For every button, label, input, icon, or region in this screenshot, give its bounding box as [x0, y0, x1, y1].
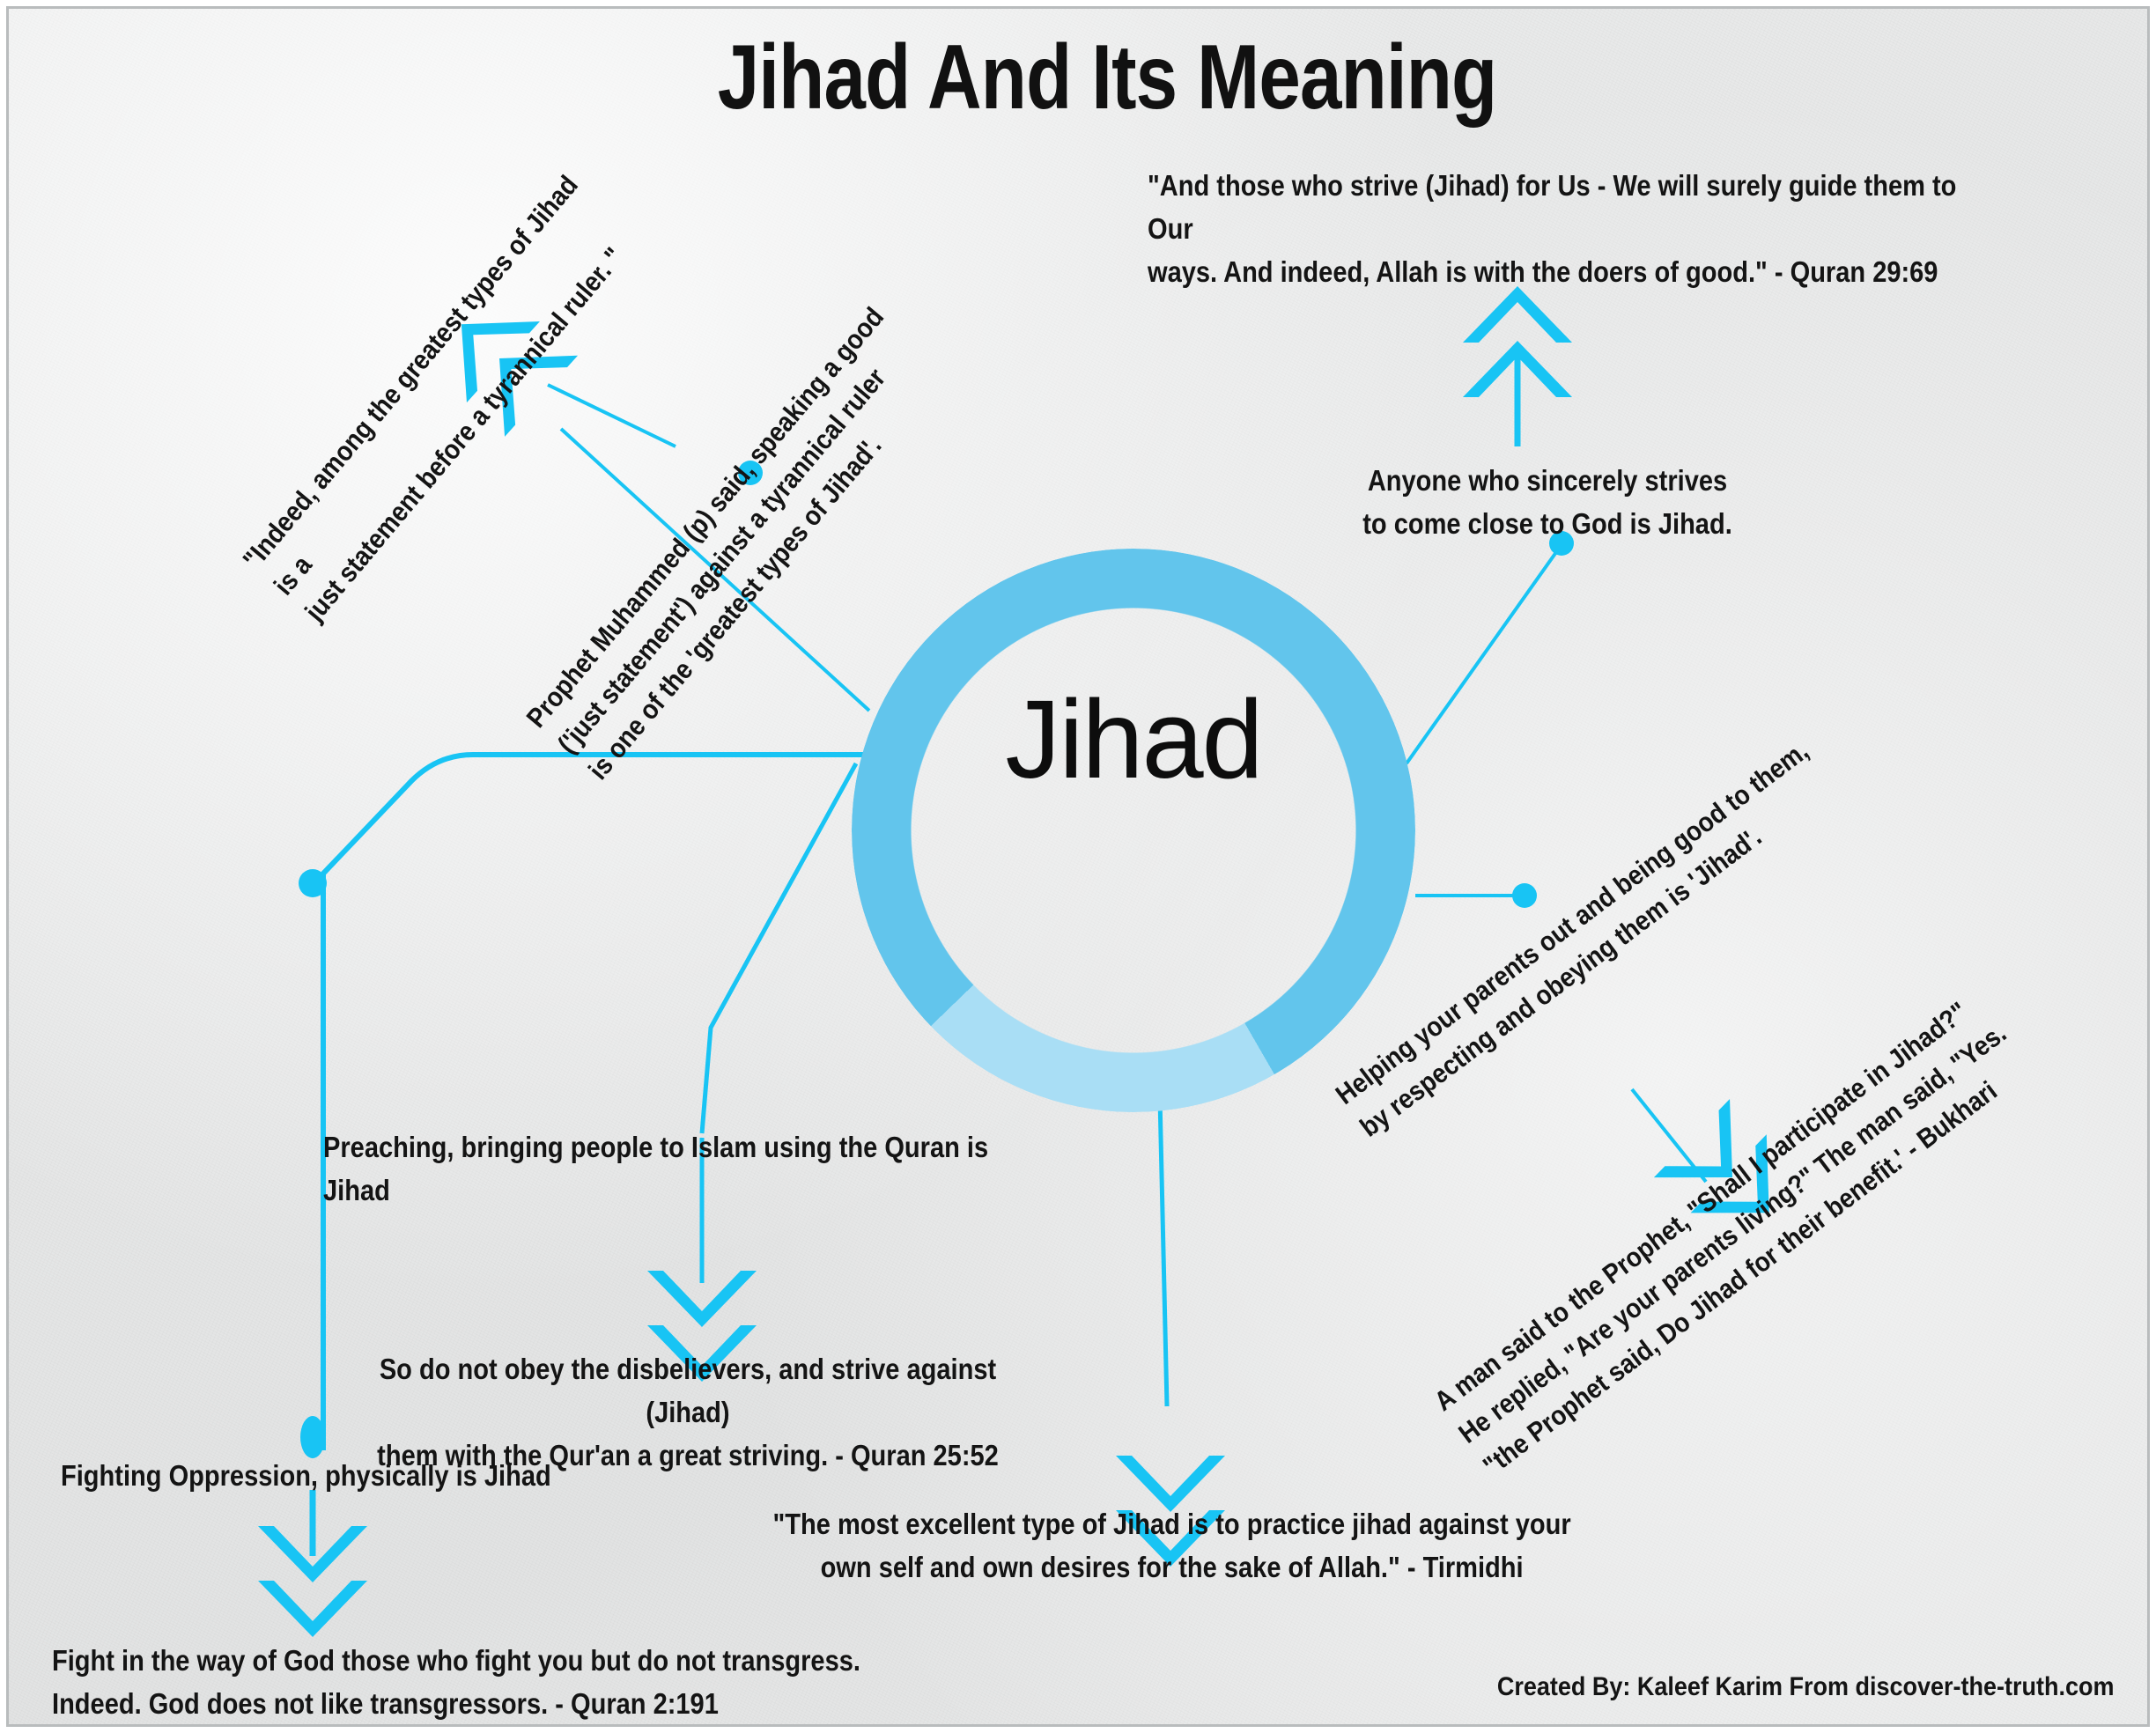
node-dot-fighting-oppression [299, 869, 327, 897]
quote-tirmidhi: "The most excellent type of Jihad is to … [769, 1503, 1575, 1589]
page-title: Jihad And Its Meaning [703, 31, 1511, 124]
center-label: Jihad [869, 675, 1398, 803]
infographic-canvas: Jihad Jihad And Its Meaning "Indeed, amo… [0, 0, 2156, 1733]
quote-quran-2-191: Fight in the way of God those who fight … [52, 1640, 904, 1726]
quote-quran-29-69: "And those who strive (Jihad) for Us - W… [1148, 165, 2008, 293]
connector-line-preaching [702, 763, 856, 1133]
chevron-up-icon-quran-29-69 [1463, 286, 1572, 397]
credit-line: Created By: Kaleef Karim From discover-t… [1497, 1672, 2115, 1702]
quote-bukhari-parents: A man said to the Prophet, "Shall I part… [1426, 960, 2069, 1486]
connector-line-left-chevron [548, 385, 676, 446]
quote-tyrannical-ruler: "Indeed, among the greatest types of Jih… [233, 151, 662, 630]
quote-preaching: Preaching, bringing people to Islam usin… [323, 1126, 1052, 1213]
quote-helping-parents: Helping your parents out and being good … [1327, 701, 1882, 1147]
quote-fighting-oppression: Fighting Oppression, physically is Jihad [61, 1455, 619, 1498]
connector-line-fighting-oppression [323, 755, 865, 1450]
connector-line-sincerely-strives [1407, 552, 1556, 763]
quote-sincerely-strives: Anyone who sincerely strives to come clo… [1354, 460, 1741, 546]
node-dot-helping-parents [1512, 883, 1537, 908]
connector-line-tirmidhi [1160, 1098, 1167, 1406]
chevron-down-icon-quran-2-191 [258, 1526, 367, 1637]
center-donut-ring [852, 549, 1415, 1112]
node-endpoint-fighting-oppression [300, 1416, 325, 1458]
connector-line-bukhari [1632, 1089, 1706, 1182]
